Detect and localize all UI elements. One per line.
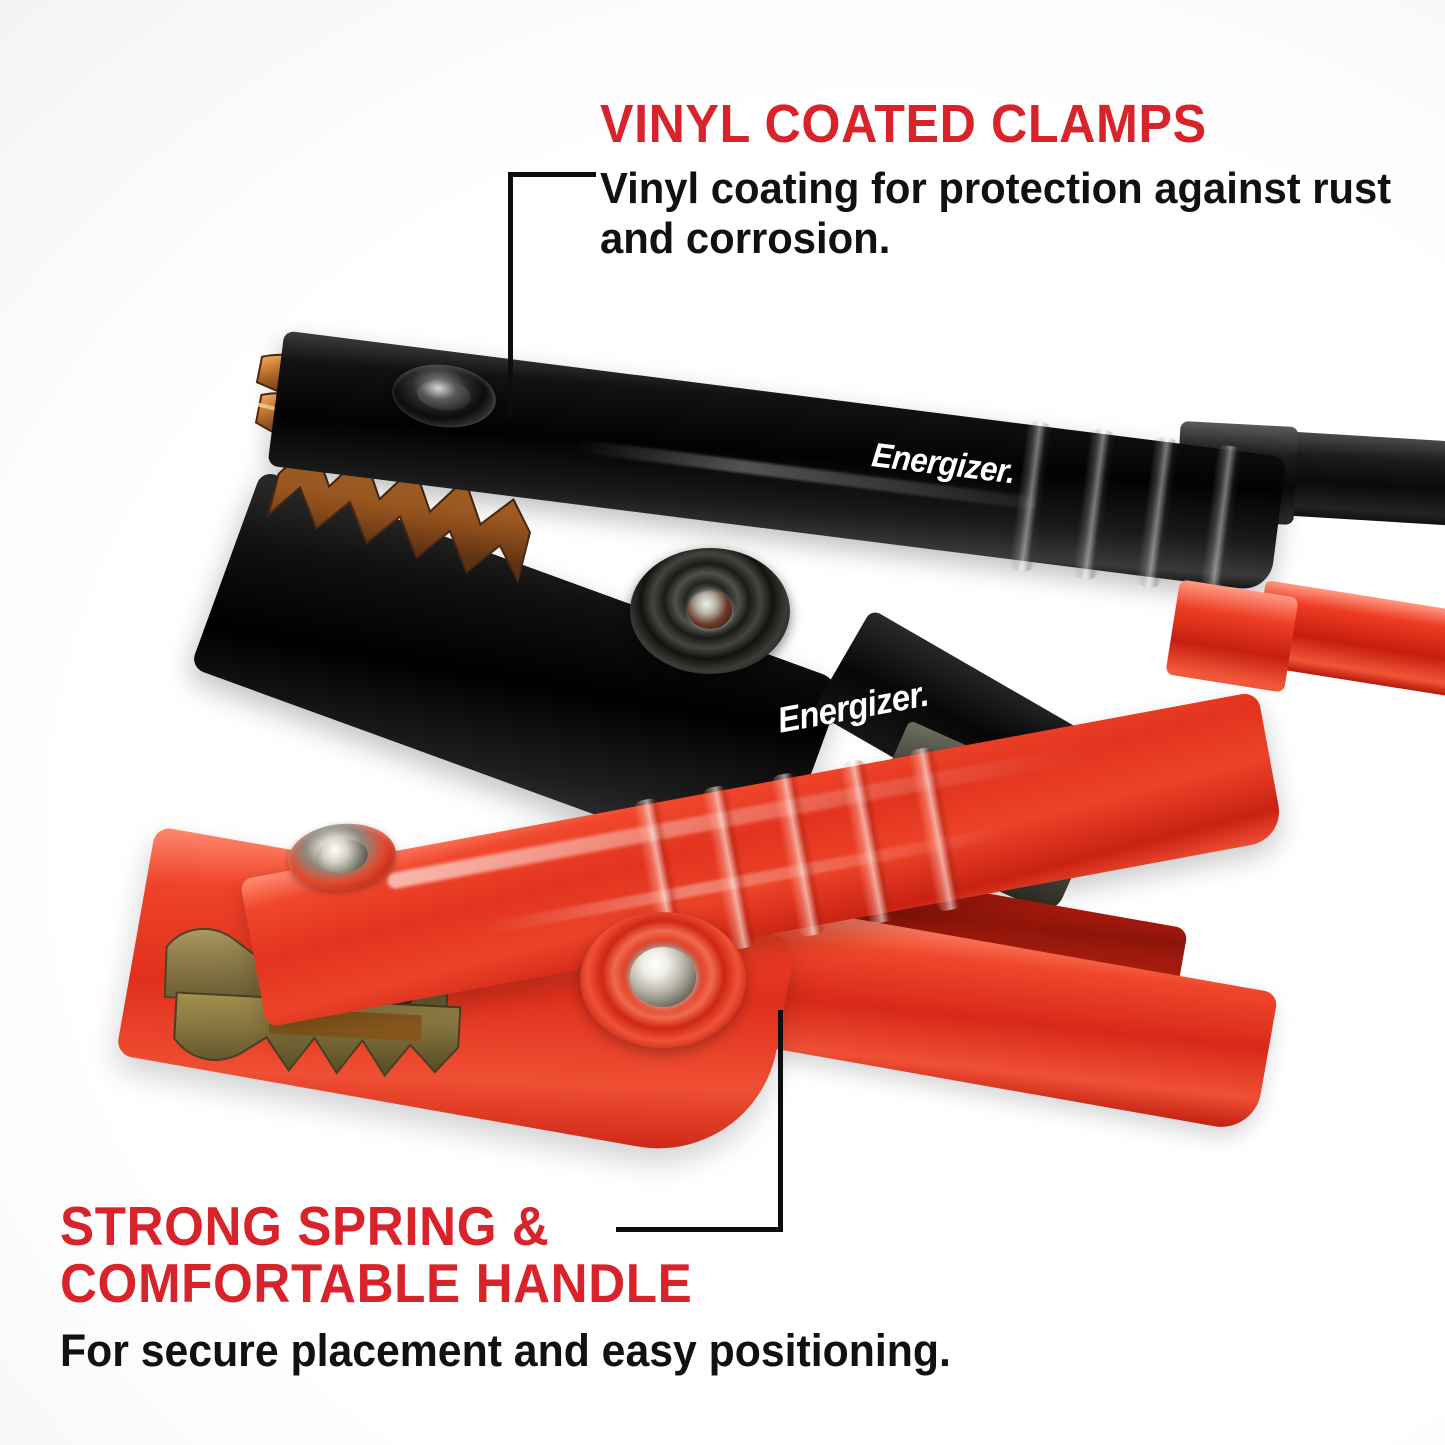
product-infographic: Energizer. bbox=[0, 0, 1445, 1445]
callout-body: Vinyl coating for protection against rus… bbox=[600, 164, 1417, 263]
grip-ridge bbox=[1199, 444, 1244, 596]
callout-body: For secure placement and easy positionin… bbox=[60, 1326, 1077, 1377]
callout-heading: VINYL COATED CLAMPS bbox=[600, 96, 1400, 152]
grip-ridge bbox=[1072, 428, 1117, 580]
callout-leader-line-top-vertical bbox=[508, 172, 513, 417]
callout-vinyl-coated-clamps: VINYL COATED CLAMPS Vinyl coating for pr… bbox=[600, 96, 1445, 264]
red-clamp-pivot-rivet bbox=[580, 912, 746, 1048]
callout-strong-spring-comfortable-handle: STRONG SPRING & COMFORTABLE HANDLE For s… bbox=[60, 1198, 1130, 1377]
grip-ridge bbox=[1135, 436, 1180, 588]
callout-heading: STRONG SPRING & COMFORTABLE HANDLE bbox=[60, 1198, 1055, 1312]
black-clamp-pivot-rivet bbox=[630, 548, 790, 674]
callout-leader-line-top-horizontal bbox=[508, 172, 596, 177]
red-cable-boot bbox=[1165, 579, 1299, 693]
